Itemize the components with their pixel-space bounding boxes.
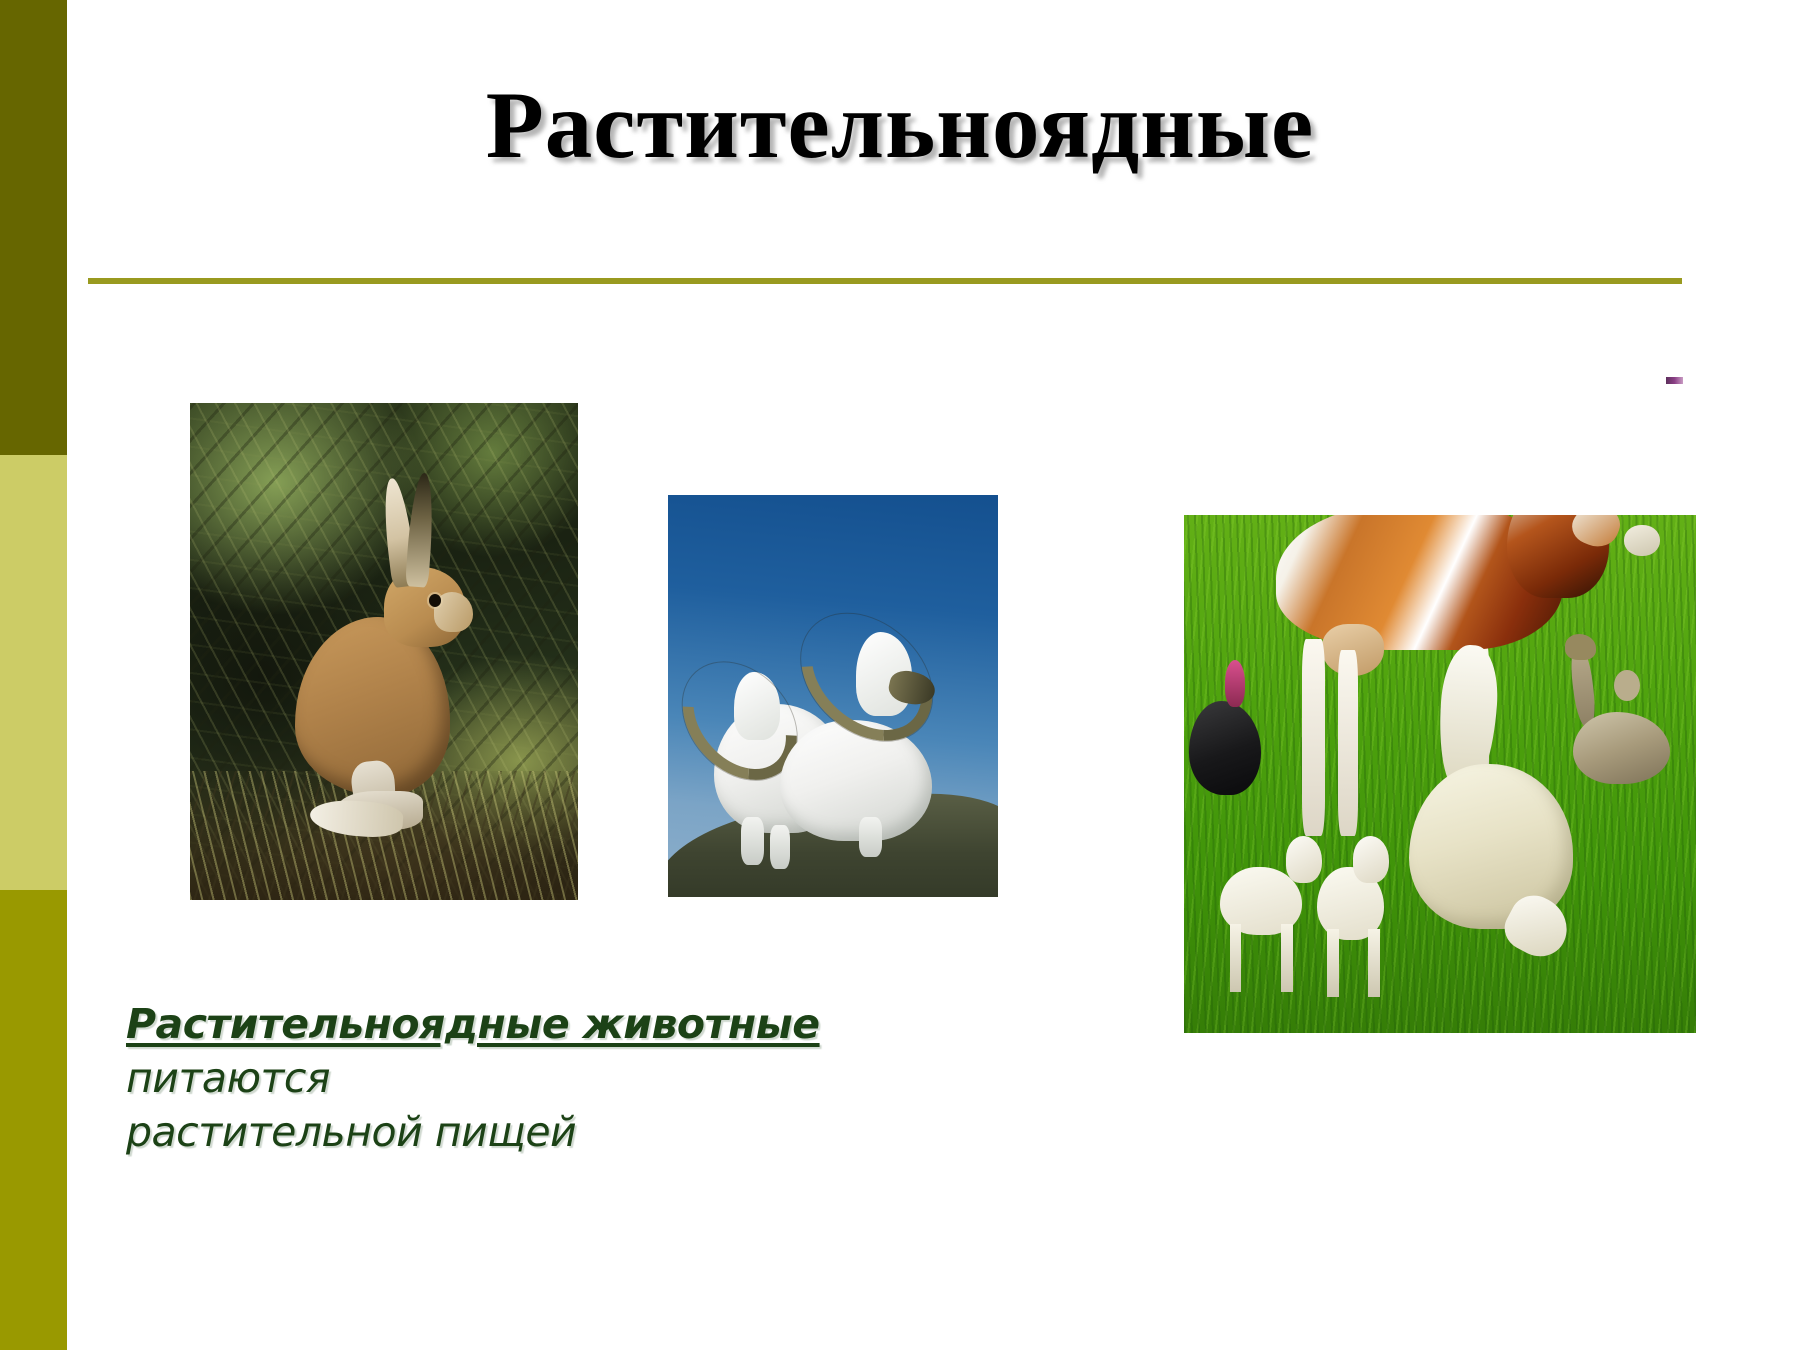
caption-line-2: растительной пищей: [126, 1108, 1026, 1156]
sidebar-decoration: [0, 0, 67, 1350]
caption-block: Растительноядные животные питаются расти…: [126, 1000, 1026, 1156]
sidebar-band-bottom: [0, 890, 67, 1350]
ram-leg-3: [859, 817, 882, 857]
sidebar-band-middle: [0, 455, 67, 890]
slide-title: Растительноядные: [0, 70, 1800, 180]
lamb-leg-a: [1230, 924, 1241, 991]
lamb-leg-b: [1281, 924, 1292, 991]
lamb-leg-d: [1368, 929, 1379, 996]
sidebar-band-top: [0, 0, 67, 455]
dall-sheep-photo: [668, 495, 998, 897]
goose-head: [1565, 634, 1596, 660]
ram-leg-2: [770, 825, 790, 869]
cow-front-leg-1: [1302, 639, 1325, 836]
slide-canvas: Растительноядные: [0, 0, 1800, 1350]
title-divider-rule: [88, 278, 1682, 284]
ram-leg-1: [741, 817, 764, 865]
lamb-1-head: [1286, 836, 1322, 883]
lamb-2-head: [1353, 836, 1389, 883]
lamb-leg-c: [1327, 929, 1338, 996]
second-goose: [1614, 670, 1640, 701]
farm-pasture-photo: [1184, 515, 1696, 1033]
caption-heading: Растительноядные животные: [126, 1000, 820, 1048]
caption-line-1: питаются: [126, 1054, 1026, 1102]
stray-dash-artifact: [1666, 377, 1683, 384]
turkey-head: [1225, 660, 1245, 707]
cow-front-leg-2: [1338, 650, 1358, 836]
hare-photo: [190, 403, 578, 900]
distant-sheep: [1624, 525, 1660, 556]
